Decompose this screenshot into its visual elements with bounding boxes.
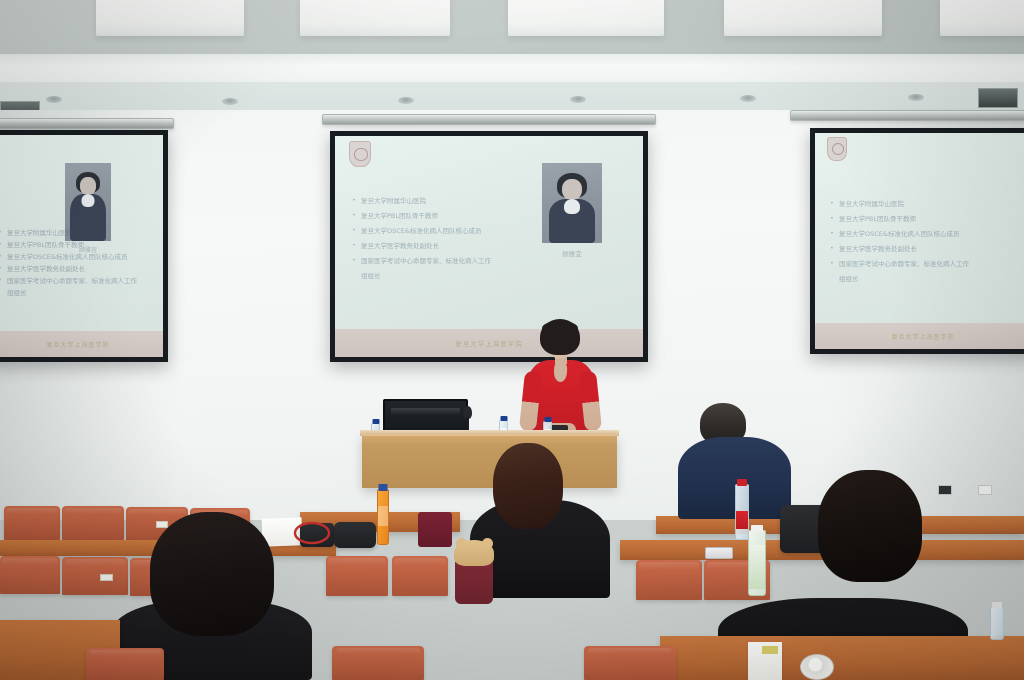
audience-head xyxy=(493,443,563,529)
lecture-hall-photo: 顾雅宜 复旦大学附属华山医院 复旦大学PBL团队骨干教师 复旦大学OSCE&标准… xyxy=(0,0,1024,680)
projection-screen-left: 顾雅宜 复旦大学附属华山医院 复旦大学PBL团队骨干教师 复旦大学OSCE&标准… xyxy=(0,130,168,362)
slide-bullet: 复旦大学附属华山医院 xyxy=(361,194,491,209)
slide-footer-text: 复旦大学上海医学院 xyxy=(455,338,523,348)
wall-outlet-left xyxy=(938,485,952,495)
lecture-chair xyxy=(636,560,702,600)
green-tea-bottle xyxy=(748,530,766,596)
lecture-chair xyxy=(326,556,388,596)
slide-bullet: 国家医学考试中心命题专家、标准化病人工作 xyxy=(361,254,491,269)
slide-bullet: 国家医学考试中心命题专家、标准化病人工作 xyxy=(839,257,969,272)
lectern-podium xyxy=(362,434,617,488)
water-bottle-red-cap xyxy=(735,484,749,540)
seat-number-tag xyxy=(156,521,168,528)
ceiling-soffit xyxy=(0,54,1024,84)
binder-clip xyxy=(762,646,778,654)
recessed-light-panel xyxy=(508,0,664,36)
slide-bullet: 组组长 xyxy=(839,272,969,287)
slide-bullet: 复旦大学OSCE&标准化病人团队核心成员 xyxy=(7,251,137,263)
slide-bullet: 复旦大学附属华山医院 xyxy=(839,197,969,212)
lecture-chair xyxy=(86,648,164,680)
slide-bullet: 复旦大学PBL团队骨干教师 xyxy=(361,209,491,224)
slide-footer-text: 复旦大学上海医学院 xyxy=(46,340,109,349)
screen-roller-left xyxy=(0,118,174,129)
presenter-fringe xyxy=(542,321,578,335)
seat-number-tag xyxy=(100,574,113,581)
lecture-chair xyxy=(0,556,60,594)
handbag-maroon xyxy=(418,512,452,547)
ceiling-downlight xyxy=(740,95,756,102)
ceiling-downlight xyxy=(908,94,924,101)
university-emblem-icon xyxy=(349,141,371,167)
lecture-chair xyxy=(62,506,124,540)
water-bottle-far-right xyxy=(990,606,1004,640)
recessed-light-panel xyxy=(96,0,244,36)
ceiling-vent xyxy=(978,88,1018,108)
wall-outlet-right xyxy=(978,485,992,495)
bear-cup xyxy=(455,560,493,604)
camera-bag-black-2 xyxy=(334,522,376,548)
slide-bullet: 国家医学考试中心命题专家、标准化病人工作 xyxy=(7,275,137,287)
university-emblem-icon xyxy=(827,137,847,161)
slide-footer-text: 复旦大学上海医学院 xyxy=(891,332,954,341)
bear-cup-lid xyxy=(454,540,494,566)
slide-bullet: 复旦大学附属华山医院 xyxy=(7,227,137,239)
slide-bullet: 复旦大学OSCE&标准化病人团队核心成员 xyxy=(361,224,491,239)
recessed-light-panel xyxy=(940,0,1024,36)
audience-head xyxy=(818,470,922,582)
lecture-chair xyxy=(4,506,60,540)
slide-bullet: 复旦大学医学教务处副处长 xyxy=(839,242,969,257)
desk-row-front-right xyxy=(660,636,1024,680)
slide-bullet: 复旦大学医学教务处副处长 xyxy=(361,239,491,254)
orange-juice-bottle xyxy=(377,489,389,545)
screen-roller-center xyxy=(322,114,656,125)
lecture-chair xyxy=(62,557,128,595)
smartphone xyxy=(705,547,733,559)
audience-head xyxy=(150,512,274,636)
slide-bullet: 复旦大学OSCE&标准化病人团队核心成员 xyxy=(839,227,969,242)
screen-roller-right xyxy=(790,110,1024,121)
slide-bullet: 复旦大学PBL团队骨干教师 xyxy=(839,212,969,227)
ceiling-downlight xyxy=(46,96,62,103)
ceiling-downlight xyxy=(398,97,414,104)
ceiling-downlight xyxy=(570,96,586,103)
slide-portrait-image xyxy=(542,163,602,243)
recessed-light-panel xyxy=(300,0,450,36)
slide-bullet: 复旦大学医学教务处副处长 xyxy=(7,263,137,275)
slide-bullet: 复旦大学PBL团队骨干教师 xyxy=(7,239,137,251)
recessed-light-panel xyxy=(724,0,882,36)
ceiling-downlight xyxy=(222,98,238,105)
lecture-chair xyxy=(392,556,448,596)
slide-bullet: 组组长 xyxy=(7,287,137,299)
red-cable xyxy=(292,518,334,548)
slide-portrait-caption: 顾雅宜 xyxy=(542,248,602,258)
projection-screen-right: 复旦大学附属华山医院 复旦大学PBL团队骨干教师 复旦大学OSCE&标准化病人团… xyxy=(810,128,1024,354)
tape-roll xyxy=(800,654,834,680)
lecture-chair xyxy=(332,646,424,680)
lecture-chair xyxy=(584,646,676,680)
slide-bullet: 组组长 xyxy=(361,269,491,284)
